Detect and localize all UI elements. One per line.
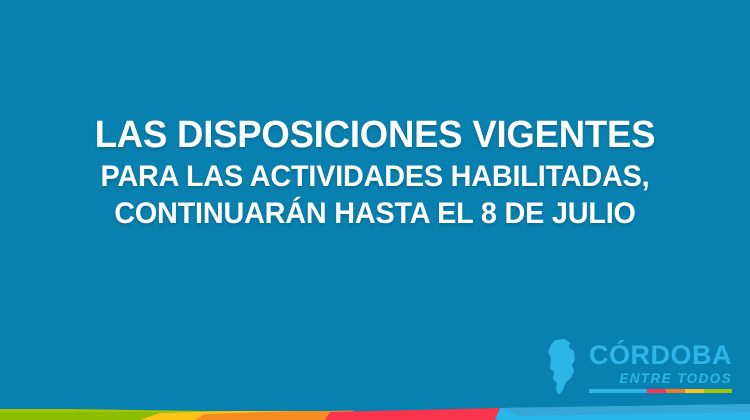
headline-line-2: PARA LAS ACTIVIDADES HABILITADAS,: [15, 158, 735, 195]
headline-line-1: LAS DISPOSICIONES VIGENTES: [15, 112, 735, 158]
cordoba-province-map-icon: [541, 338, 581, 396]
green-strip-shape: [0, 412, 200, 420]
light-blue-strip-shape: [500, 404, 750, 416]
red-triangle-shape: [718, 0, 750, 95]
logo-bar-segment-yellow: [685, 389, 704, 393]
green-triangle-shape: [535, 0, 608, 85]
headline-line-3: CONTINUARÁN HASTA EL 8 DE JULIO: [15, 195, 735, 232]
cyan-strip-shape: [495, 404, 750, 420]
logo-bar-segment-green: [704, 389, 732, 393]
amber-triangle-shape: [683, 0, 713, 30]
orange-triangle-shape: [560, 0, 745, 85]
lime-strip-shape: [0, 409, 230, 420]
lime-triangle-shape: [560, 0, 622, 85]
orange-strip-shape: [195, 409, 355, 420]
logo-subtitle: ENTRE TODOS: [589, 371, 732, 386]
red-strip-shape: [325, 408, 500, 420]
logo-bar-segment-orange: [666, 389, 685, 393]
cyan-wedge-shape: [380, 0, 560, 85]
headline-block: LAS DISPOSICIONES VIGENTES PARA LAS ACTI…: [0, 112, 750, 232]
crimson-triangle-shape: [740, 0, 750, 95]
logo-text-block: CÓRDOBA ENTRE TODOS: [589, 342, 732, 393]
logo-bar-segment-blue: [589, 389, 647, 393]
logo-color-bar: [589, 389, 732, 393]
light-orange-triangle-shape: [560, 48, 745, 85]
orange-band-shape: [560, 48, 750, 85]
logo-bar-segment-pink: [647, 389, 666, 393]
cordoba-entre-todos-logo: CÓRDOBA ENTRE TODOS: [541, 338, 732, 396]
logo-title: CÓRDOBA: [589, 342, 732, 369]
yellow-strip-shape: [140, 408, 340, 420]
poster-canvas: LAS DISPOSICIONES VIGENTES PARA LAS ACTI…: [0, 0, 750, 420]
yellow-triangle-shape: [560, 0, 683, 85]
